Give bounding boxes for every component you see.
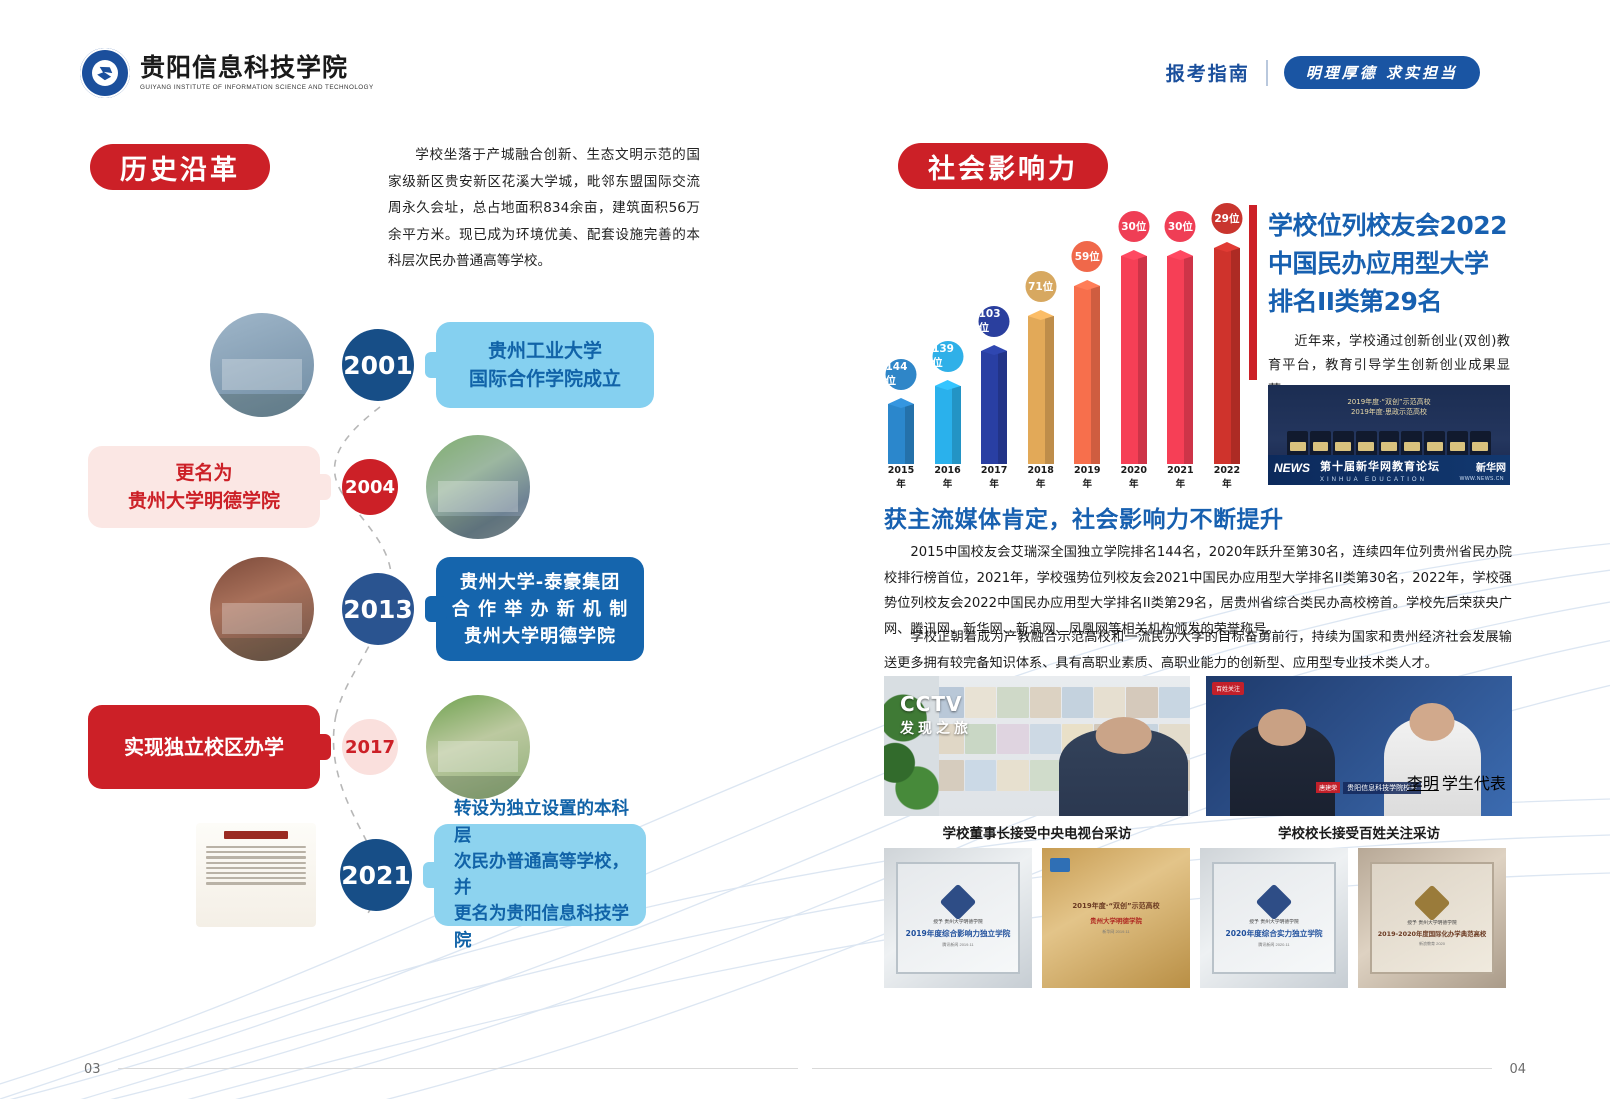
chart-bar-2022年: 29位 (1210, 214, 1244, 464)
plaque-footer: 腾讯新闻 2020.11 (1258, 942, 1289, 948)
page-number-left: 03 (84, 1062, 101, 1077)
timeline-photo-2013 (210, 557, 314, 661)
award-plaque-2: 2019年度·“双创”示范高校 贵州大学明德学院 新华网 2019.11 (1042, 848, 1190, 988)
guide-label: 报考指南 (1166, 59, 1250, 86)
page-header: 贵阳信息科技学院 GUIYANG INSTITUTE OF INFORMATIO… (0, 48, 1610, 108)
history-intro-paragraph: 学校坐落于产城融合创新、生态文明示范的国家级新区贵安新区花溪大学城，毗邻东盟国际… (388, 142, 700, 275)
award-emblem-icon (1256, 883, 1293, 920)
lower-third-president: 唐建荣 贵阳信息科技学院校长 (1316, 782, 1421, 794)
tv-studio-background: 百姓关注 唐建荣 贵阳信息科技学院校长 李明 学生代表 (1206, 676, 1512, 816)
forum-stage-line1: 2019年度·“双创”示范高校 (1268, 397, 1510, 407)
timeline-item-2004: 更名为 贵州大学明德学院 2004 (88, 435, 530, 539)
award-plaque-1: 授予 贵州大学明德学院 2019年度综合影响力独立学院 腾讯新闻 2019.11 (884, 848, 1032, 988)
timeline-text-2021: 转设为独立设置的本科层 次民办普通高等学校，并 更名为贵阳信息科技学院 (434, 824, 646, 926)
footer-rule-right (812, 1068, 1492, 1069)
plaque-footer: 新华网 2019.11 (1102, 929, 1129, 935)
caption-president-interview: 学校校长接受百姓关注采访 (1206, 822, 1512, 842)
chart-x-label: 2021年 (1163, 465, 1197, 490)
school-seal-icon (80, 48, 130, 98)
timeline-line: 转设为独立设置的本科层 次民办普通高等学校，并 更名为贵阳信息科技学院 (454, 796, 646, 954)
forum-outlet: 新华网 (1476, 459, 1506, 474)
plaque-footer: 腾讯新闻 2019.11 (942, 942, 973, 948)
lower-third-student: 李明 学生代表 (1407, 770, 1506, 794)
timeline-photo-2001 (210, 313, 314, 417)
chart-value-bubble: 139位 (932, 341, 963, 372)
footer-rule-left (118, 1068, 798, 1069)
plaque-sub: 贵州大学明德学院 (1090, 915, 1142, 925)
chart-x-label: 2016年 (931, 465, 965, 490)
school-logo: 贵阳信息科技学院 GUIYANG INSTITUTE OF INFORMATIO… (80, 48, 374, 98)
bookshelf-background: CCTV 发现之旅 (884, 676, 1190, 816)
timeline-item-2001: 2001 贵州工业大学 国际合作学院成立 (210, 313, 654, 417)
lower-third-title-2: 学生代表 (1442, 770, 1506, 794)
chart-x-label: 2020年 (1117, 465, 1151, 490)
plaque-title: 2020年度综合实力独立学院 (1225, 928, 1322, 939)
chart-value-bubble: 71位 (1025, 271, 1056, 302)
timeline-line: 贵州大学-泰豪集团 合 作 举 办 新 机 制 贵州大学明德学院 (452, 569, 629, 650)
timeline-item-2021: 2021 转设为独立设置的本科层 次民办普通高等学校，并 更名为贵阳信息科技学院 (196, 823, 646, 927)
timeline-text-2013: 贵州大学-泰豪集团 合 作 举 办 新 机 制 贵州大学明德学院 (436, 557, 644, 661)
chart-bar-2021年: 30位 (1163, 214, 1197, 464)
timeline-photo-2021-document (196, 823, 316, 927)
forum-stage-line2: 2019年度·思政示范高校 (1268, 407, 1510, 417)
chart-bar-2016年: 139位 (931, 214, 965, 464)
chart-x-label: 2022年 (1210, 465, 1244, 490)
chart-value-bubble: 30位 (1165, 211, 1196, 242)
cctv-program-name: 发现之旅 (900, 718, 972, 738)
media-section-heading: 获主流媒体肯定，社会影响力不断提升 (884, 500, 1284, 534)
tv-channel-logo: 百姓关注 (1212, 682, 1244, 695)
president-figure (1230, 724, 1334, 816)
ranking-bar-chart: 144位139位103位71位59位30位30位29位 2015年2016年20… (884, 205, 1244, 490)
award-emblem-icon (940, 883, 977, 920)
chart-value-bubble: 59位 (1072, 241, 1103, 272)
timeline-year-2004: 2004 (342, 459, 398, 515)
lower-third-name: 唐建荣 (1316, 782, 1340, 793)
award-badge-icon (1050, 858, 1070, 872)
chart-x-label: 2017年 (977, 465, 1011, 490)
interview-photo-chairman: CCTV 发现之旅 (884, 676, 1190, 816)
timeline-photo-2017 (426, 695, 530, 799)
plaque-title: 2019年度·“双创”示范高校 (1072, 901, 1159, 911)
timeline-year-2001: 2001 (342, 329, 414, 401)
section-badge-history: 历史沿革 (90, 144, 270, 190)
headline-accent-bar (1249, 205, 1257, 380)
forum-banner-en: XINHUA EDUCATION (1320, 477, 1427, 483)
timeline-year-2017: 2017 (342, 719, 398, 775)
forum-award-photo: 2019年度·“双创”示范高校 2019年度·思政示范高校 NEWS 第十届新华… (1268, 385, 1510, 485)
forum-stage-text: 2019年度·“双创”示范高校 2019年度·思政示范高校 (1268, 397, 1510, 417)
chart-x-label: 2018年 (1024, 465, 1058, 490)
forum-banner: NEWS 第十届新华网教育论坛 XINHUA EDUCATION 新华网 WWW… (1268, 455, 1510, 485)
chart-bar-2020年: 30位 (1117, 214, 1151, 464)
chart-value-bubble: 144位 (886, 359, 917, 390)
chart-bar-2019年: 59位 (1070, 214, 1104, 464)
timeline-year-2013: 2013 (342, 573, 414, 645)
plaque-title: 2019年度综合影响力独立学院 (906, 928, 1011, 939)
xinhua-news-logo-icon: NEWS (1274, 461, 1310, 475)
chart-bar-2018年: 71位 (1024, 214, 1058, 464)
ranking-headline: 学校位列校友会2022 中国民办应用型大学 排名II类第29名 (1268, 207, 1508, 321)
timeline-text-2004: 更名为 贵州大学明德学院 (88, 446, 320, 528)
caption-chairman-interview: 学校董事长接受中央电视台采访 (884, 822, 1190, 842)
document-title-bar (224, 831, 288, 839)
timeline-item-2017: 实现独立校区办学 2017 (88, 695, 530, 799)
timeline-line: 实现独立校区办学 (124, 732, 284, 762)
cctv-logo-text: CCTV (900, 692, 962, 716)
timeline-item-2013: 2013 贵州大学-泰豪集团 合 作 举 办 新 机 制 贵州大学明德学院 (210, 557, 644, 661)
logo-name-en: GUIYANG INSTITUTE OF INFORMATION SCIENCE… (140, 84, 374, 91)
plaque-title: 2019-2020年度国际化办学典范高校 (1378, 929, 1487, 938)
history-timeline: 2001 贵州工业大学 国际合作学院成立 更名为 贵州大学明德学院 2004 2… (80, 295, 760, 975)
chart-bars: 144位139位103位71位59位30位30位29位 (884, 214, 1244, 464)
header-divider (1266, 60, 1268, 86)
chart-x-label: 2015年 (884, 465, 918, 490)
timeline-photo-2004 (426, 435, 530, 539)
media-paragraph-2: 学校正朝着成为产教融合示范高校和一流民办大学的目标奋勇前行，持续为国家和贵州经济… (884, 625, 1512, 676)
section-badge-social-impact: 社会影响力 (898, 143, 1108, 189)
timeline-year-2021: 2021 (340, 839, 412, 911)
chart-bar-2017年: 103位 (977, 214, 1011, 464)
timeline-text-2017: 实现独立校区办学 (88, 705, 320, 789)
chart-value-bubble: 30位 (1118, 211, 1149, 242)
page-number-right: 04 (1509, 1062, 1526, 1077)
chart-bar-2015年: 144位 (884, 214, 918, 464)
award-emblem-icon (1414, 884, 1451, 921)
timeline-text-2001: 贵州工业大学 国际合作学院成立 (436, 322, 654, 408)
student-figure (1384, 718, 1482, 816)
lower-third-name-2: 李明 (1407, 770, 1439, 794)
brochure-spread: 贵阳信息科技学院 GUIYANG INSTITUTE OF INFORMATIO… (0, 0, 1610, 1099)
chart-x-labels: 2015年2016年2017年2018年2019年2020年2021年2022年 (884, 465, 1244, 490)
cctv-watermark: CCTV 发现之旅 (900, 692, 972, 738)
interview-photo-president: 百姓关注 唐建荣 贵阳信息科技学院校长 李明 学生代表 (1206, 676, 1512, 816)
timeline-line: 更名为 贵州大学明德学院 (128, 459, 280, 516)
chairman-figure (1059, 729, 1188, 816)
logo-name-cn: 贵阳信息科技学院 (140, 55, 374, 81)
forum-url: WWW.NEWS.CN (1460, 476, 1504, 482)
forum-banner-cn: 第十届新华网教育论坛 (1320, 458, 1440, 474)
award-plaque-4: 授予 贵州大学明德学院 2019-2020年度国际化办学典范高校 新浪教育 20… (1358, 848, 1506, 988)
chart-x-label: 2019年 (1070, 465, 1104, 490)
school-motto-pill: 明理厚德 求实担当 (1284, 56, 1480, 89)
chart-value-bubble: 29位 (1211, 203, 1242, 234)
plaque-footer: 新浪教育 2020 (1419, 941, 1445, 947)
timeline-line: 贵州工业大学 国际合作学院成立 (469, 337, 621, 394)
award-plaque-3: 授予 贵州大学明德学院 2020年度综合实力独立学院 腾讯新闻 2020.11 (1200, 848, 1348, 988)
chart-value-bubble: 103位 (979, 306, 1010, 337)
header-right-group: 报考指南 明理厚德 求实担当 (1166, 56, 1480, 89)
